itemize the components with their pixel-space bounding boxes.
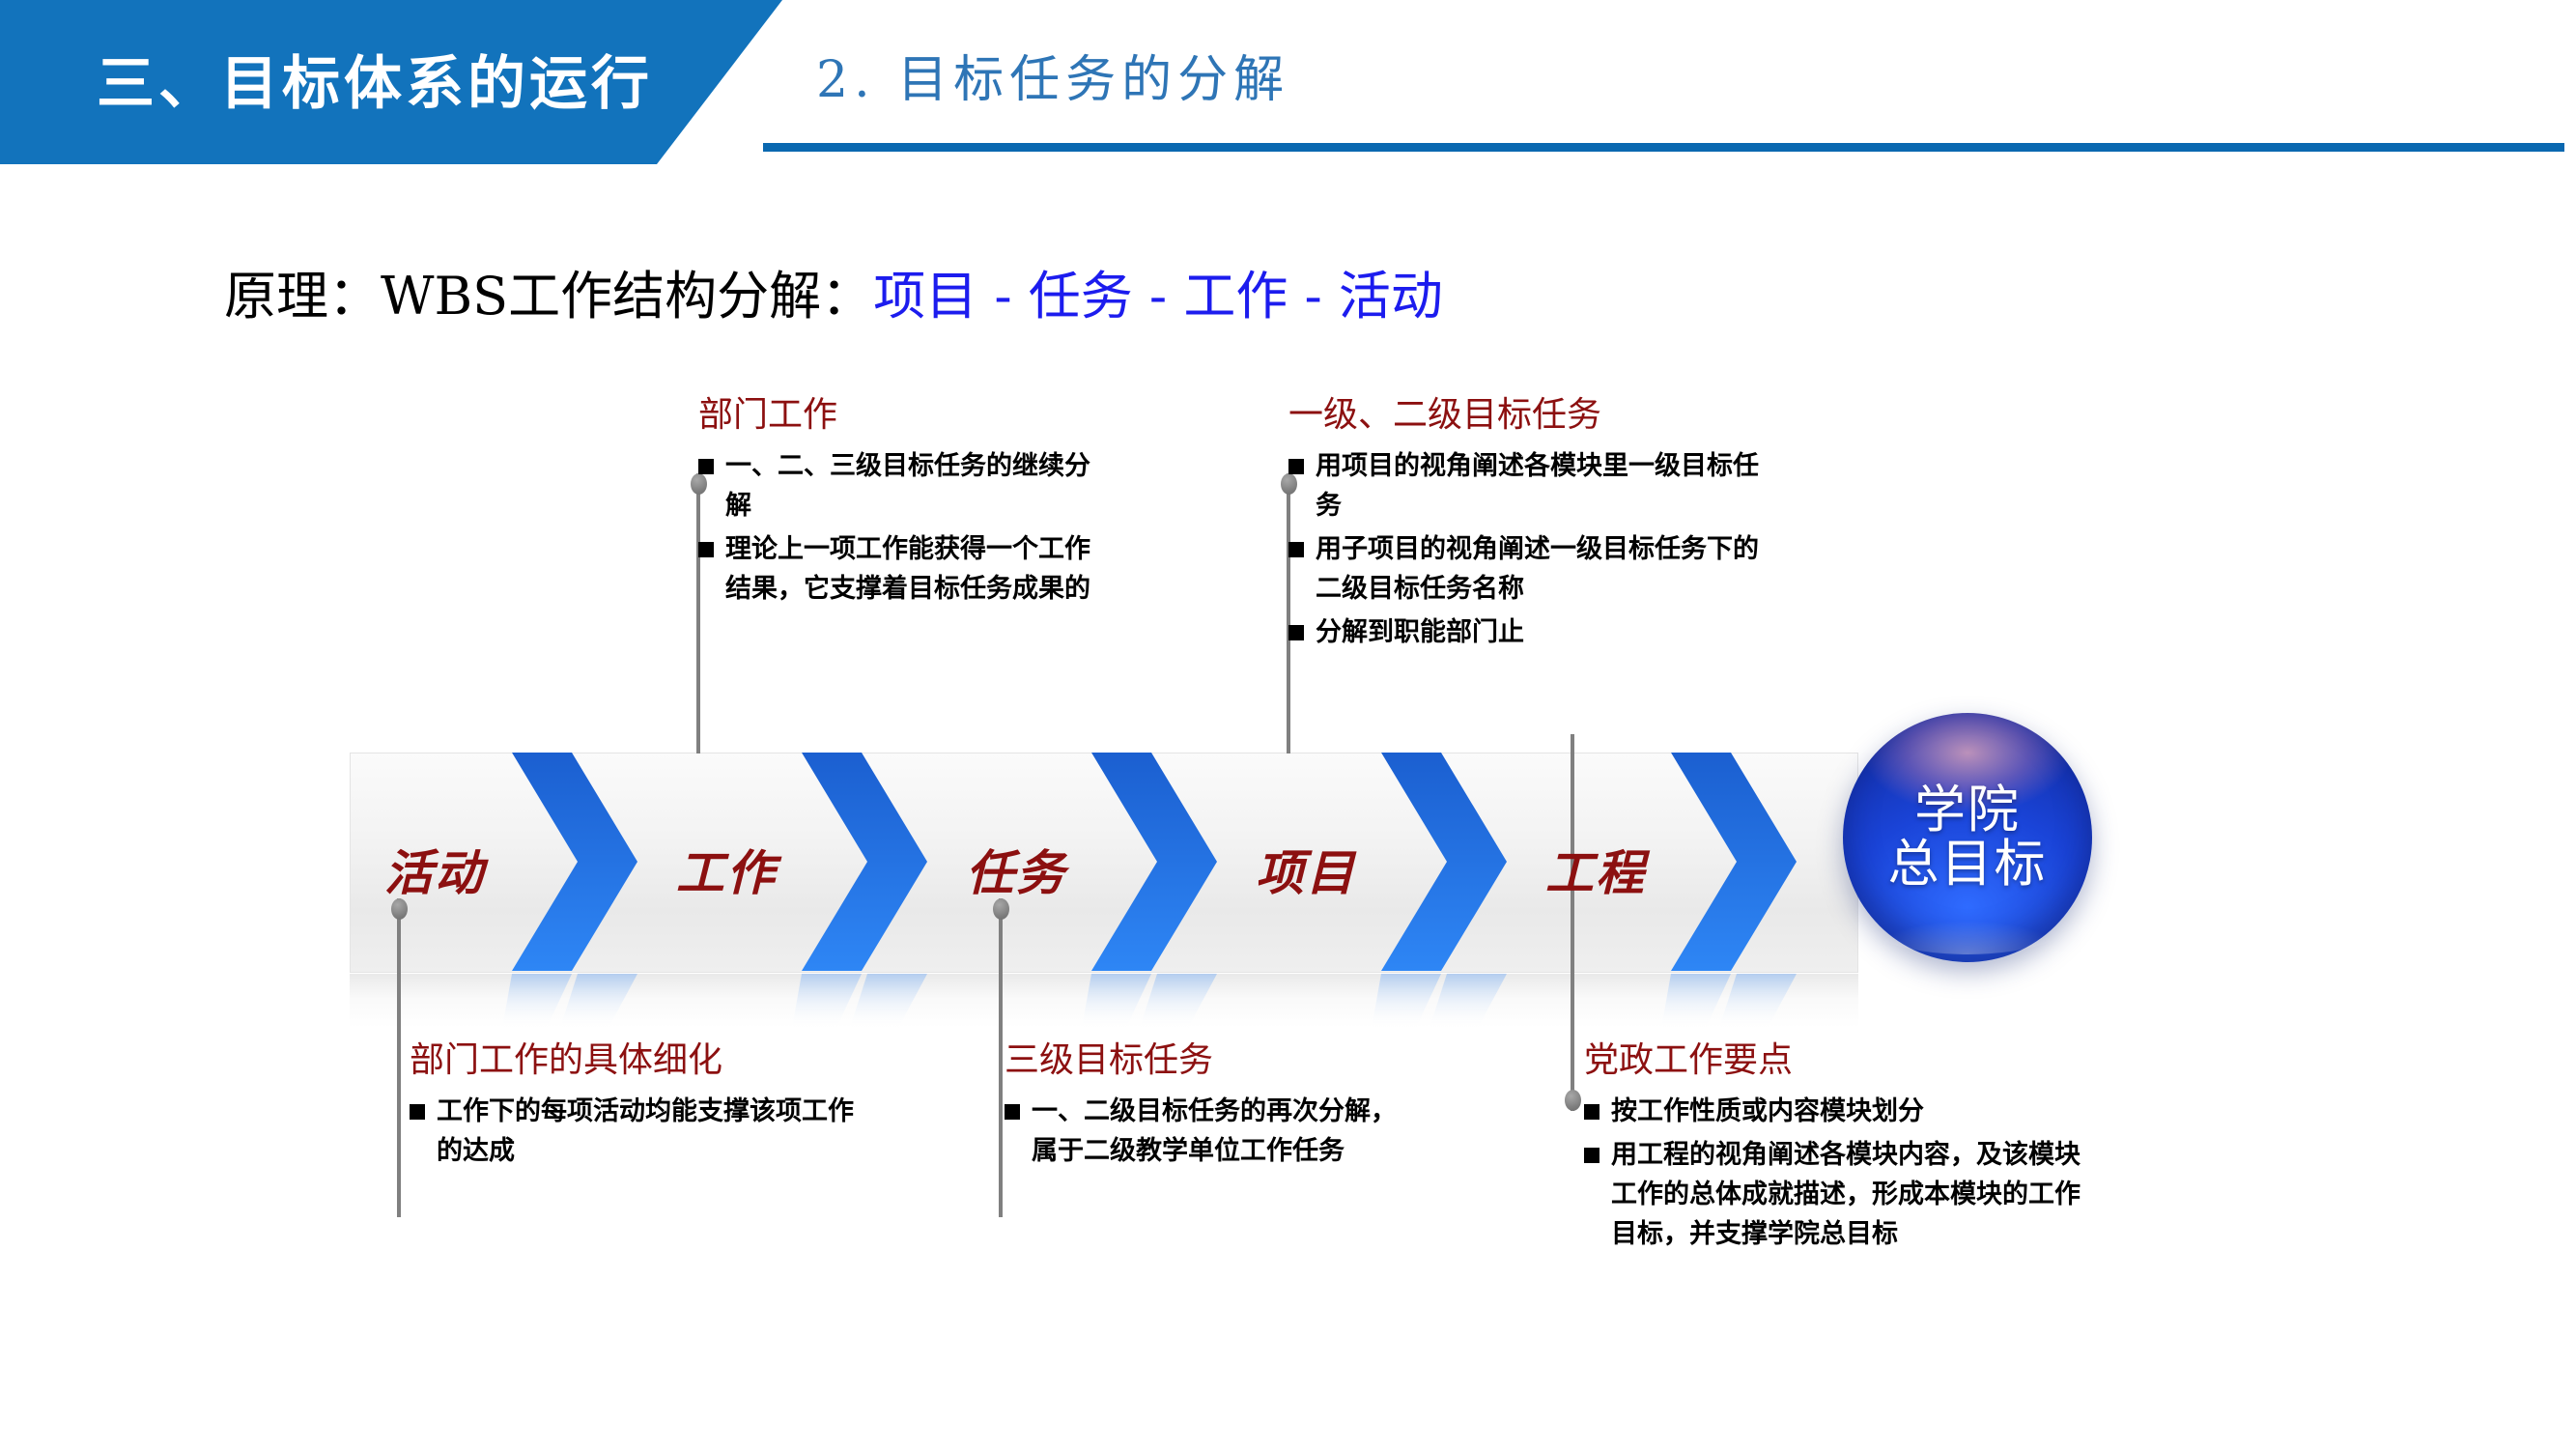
- callout-dept-work: 部门工作 一、二、三级目标任务的继续分解 理论上一项工作能获得一个工作结果，它支…: [698, 386, 1104, 612]
- callout-title: 三级目标任务: [1005, 1032, 1410, 1082]
- callout-dept-work-detail: 部门工作的具体细化 工作下的每项活动均能支撑该项工作的达成: [410, 1032, 863, 1175]
- list-item-text: 工作下的每项活动均能支撑该项工作的达成: [437, 1092, 863, 1171]
- chevron-arrow-5-reflection: [1661, 974, 1806, 1028]
- chevron-arrow-5: [1661, 753, 1806, 971]
- chevron-arrow-2-reflection: [792, 974, 937, 1028]
- header-underline: [763, 143, 2564, 152]
- connector-dot: [1565, 1090, 1581, 1111]
- chevron-arrow-4-reflection: [1372, 974, 1516, 1028]
- list-item: 按工作性质或内容模块划分: [1584, 1092, 2091, 1131]
- connector-line: [1571, 734, 1574, 1111]
- stage-label-project: 项目: [1256, 835, 1356, 904]
- principle-statement: 原理：WBS工作结构分解：项目 - 任务 - 工作 - 活动: [224, 253, 1443, 329]
- callout-title: 部门工作: [698, 386, 1104, 437]
- callout-title: 党政工作要点: [1584, 1032, 2091, 1082]
- list-item-text: 分解到职能部门止: [1316, 612, 1771, 652]
- principle-chain: 项目 - 任务 - 工作 - 活动: [873, 266, 1443, 327]
- bullet-square-icon: [698, 459, 714, 474]
- list-item-text: 用工程的视角阐述各模块内容，及该模块工作的总体成就描述，形成本模块的工作目标，并…: [1611, 1135, 2091, 1254]
- callout-bullet-list: 用项目的视角阐述各模块里一级目标任务 用子项目的视角阐述一级目标任务下的二级目标…: [1288, 446, 1771, 652]
- bullet-square-icon: [1584, 1148, 1599, 1163]
- sphere-label-line1: 学院: [1914, 783, 2021, 838]
- bullet-square-icon: [1005, 1104, 1020, 1120]
- stage-label-work: 工作: [676, 835, 777, 904]
- list-item: 理论上一项工作能获得一个工作结果，它支撑着目标任务成果的: [698, 529, 1104, 609]
- callout-title: 部门工作的具体细化: [410, 1032, 863, 1082]
- section-title: 2. 目标任务的分解: [816, 39, 1289, 111]
- list-item-text: 用项目的视角阐述各模块里一级目标任务: [1316, 446, 1771, 526]
- bullet-square-icon: [1288, 625, 1304, 640]
- chevron-arrow-2: [792, 753, 937, 971]
- chevron-arrow-3: [1082, 753, 1227, 971]
- bullet-square-icon: [698, 542, 714, 557]
- chevron-arrow-4: [1372, 753, 1516, 971]
- list-item: 一、二级目标任务的再次分解，属于二级教学单位工作任务: [1005, 1092, 1410, 1171]
- list-item-text: 一、二级目标任务的再次分解，属于二级教学单位工作任务: [1032, 1092, 1410, 1171]
- callout-party-gov-points: 党政工作要点 按工作性质或内容模块划分 用工程的视角阐述各模块内容，及该模块工作…: [1584, 1032, 2091, 1258]
- chevron-arrow-1-reflection: [502, 974, 647, 1028]
- bullet-square-icon: [1288, 459, 1304, 474]
- page-title: 三、目标体系的运行: [97, 37, 653, 121]
- list-item: 用项目的视角阐述各模块里一级目标任务: [1288, 446, 1771, 526]
- list-item-text: 一、二、三级目标任务的继续分解: [725, 446, 1104, 526]
- stage-label-task: 任务: [966, 835, 1066, 904]
- sphere-label: 学院 总目标: [1843, 713, 2092, 962]
- callout-bullet-list: 一、二级目标任务的再次分解，属于二级教学单位工作任务: [1005, 1092, 1410, 1171]
- list-item: 一、二、三级目标任务的继续分解: [698, 446, 1104, 526]
- chevron-arrow-1: [502, 753, 647, 971]
- bullet-square-icon: [1584, 1104, 1599, 1120]
- list-item-text: 按工作性质或内容模块划分: [1611, 1092, 2091, 1131]
- list-item-text: 理论上一项工作能获得一个工作结果，它支撑着目标任务成果的: [725, 529, 1104, 609]
- stage-label-activity: 活动: [384, 835, 485, 904]
- callout-level3-task: 三级目标任务 一、二级目标任务的再次分解，属于二级教学单位工作任务: [1005, 1032, 1410, 1175]
- bullet-square-icon: [410, 1104, 425, 1120]
- list-item: 用子项目的视角阐述一级目标任务下的二级目标任务名称: [1288, 529, 1771, 609]
- stage-label-program: 工程: [1545, 835, 1646, 904]
- chevron-arrow-3-reflection: [1082, 974, 1227, 1028]
- connector-line: [999, 898, 1003, 1217]
- connector-line: [397, 898, 401, 1217]
- list-item: 用工程的视角阐述各模块内容，及该模块工作的总体成就描述，形成本模块的工作目标，并…: [1584, 1135, 2091, 1254]
- callout-bullet-list: 一、二、三级目标任务的继续分解 理论上一项工作能获得一个工作结果，它支撑着目标任…: [698, 446, 1104, 609]
- callout-level12-task: 一级、二级目标任务 用项目的视角阐述各模块里一级目标任务 用子项目的视角阐述一级…: [1288, 386, 1771, 656]
- college-goal-sphere: 学院 总目标: [1843, 713, 2096, 966]
- callout-title: 一级、二级目标任务: [1288, 386, 1771, 437]
- callout-bullet-list: 工作下的每项活动均能支撑该项工作的达成: [410, 1092, 863, 1171]
- sphere-label-line2: 总目标: [1888, 838, 2048, 892]
- callout-bullet-list: 按工作性质或内容模块划分 用工程的视角阐述各模块内容，及该模块工作的总体成就描述…: [1584, 1092, 2091, 1254]
- list-item: 工作下的每项活动均能支撑该项工作的达成: [410, 1092, 863, 1171]
- principle-prefix: 原理：WBS工作结构分解：: [224, 266, 873, 327]
- list-item-text: 用子项目的视角阐述一级目标任务下的二级目标任务名称: [1316, 529, 1771, 609]
- list-item: 分解到职能部门止: [1288, 612, 1771, 652]
- bullet-square-icon: [1288, 542, 1304, 557]
